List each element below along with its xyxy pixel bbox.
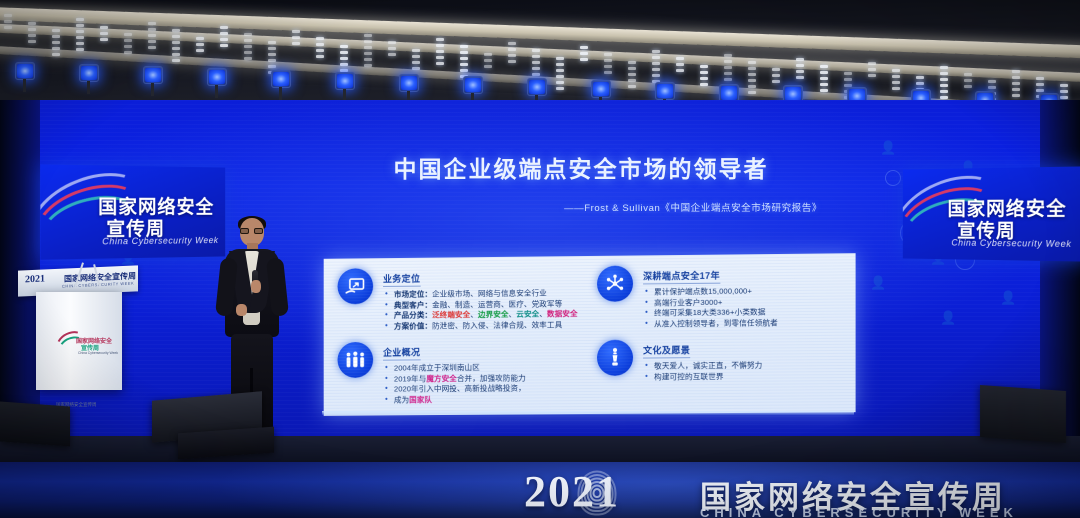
bullet-text: 2020年引入中网投、高新投战略投资， xyxy=(394,383,526,393)
stage-light-fixture xyxy=(78,64,100,90)
led-dot-group xyxy=(868,62,877,80)
bullet-text: 高端行业客户3000+ xyxy=(654,297,722,307)
led-dot-group xyxy=(364,34,373,70)
projected-slide: 中国企业级端点安全市场的领导者 ——Frost & Sullivan《中国企业端… xyxy=(300,128,862,428)
stage-light-fixture xyxy=(14,62,36,88)
card-body: 业务定位市场定位：企业级市场、网络与信息安全行业典型客户：金融、制造、运营商、医… xyxy=(383,267,582,332)
led-dot-group xyxy=(4,14,13,32)
bullet-highlight: 国家队 xyxy=(409,395,432,404)
bullet-text: 从准入控制领导者，到零信任领航者 xyxy=(654,318,778,328)
card-bullet: 成为国家队 xyxy=(383,394,582,406)
led-dot-group xyxy=(316,37,325,61)
stage-front-en-title: CHINA CYBERSECURITY WEEK xyxy=(700,505,1018,518)
bullet-label: 产品分类： xyxy=(394,310,432,319)
led-dot-group xyxy=(532,49,541,79)
led-dot-group xyxy=(700,65,709,89)
bullet-segment: 数据安全 xyxy=(547,309,578,318)
led-dot-group xyxy=(1012,70,1021,100)
stage-light-fixture xyxy=(142,66,164,92)
led-dot-group xyxy=(628,61,637,91)
banner-right-en: China Cybersecurity Week xyxy=(951,238,1071,249)
bullet-text: 2019年与 xyxy=(394,374,426,383)
bullet-text: 2004年成立于深圳南山区 xyxy=(394,363,480,373)
led-dot-group xyxy=(772,68,781,86)
led-dot-group xyxy=(508,42,517,66)
card-heading: 业务定位 xyxy=(383,272,420,287)
led-dot-group xyxy=(28,22,37,46)
led-dot-group xyxy=(220,26,229,50)
stage-light-fixture xyxy=(462,76,484,102)
banner-left-en: China Cybersecurity Week xyxy=(102,235,218,246)
podium-logo-en: China Cybersecurity Week xyxy=(78,351,118,355)
led-dot-group xyxy=(964,73,973,91)
led-dot-group xyxy=(292,30,301,48)
led-dot-group xyxy=(724,54,733,84)
led-dot-group xyxy=(604,53,613,77)
bullet-label: 方案价值： xyxy=(394,321,432,330)
card-heading: 文化及愿景 xyxy=(643,343,690,358)
stage-light-fixture xyxy=(334,72,356,98)
wall-person-glyph-icon: 👤 xyxy=(880,140,896,156)
led-dot-group xyxy=(388,41,397,59)
led-dot-group xyxy=(340,45,349,75)
speaker-hand-left xyxy=(236,304,247,316)
people-group-icon xyxy=(338,342,374,378)
bullet-text: 企业级市场、网络与信息安全行业 xyxy=(432,288,547,298)
led-dot-group xyxy=(556,57,565,93)
stage-light-fixture xyxy=(398,74,420,100)
fingerprint-ridge xyxy=(578,471,617,516)
podium: 2021 国家网络安全宣传周 CHINA CYBERSECURITY WEEK … xyxy=(24,268,132,390)
card-bullet: 方案价值：防泄密、防入侵、法律合规、效率工具 xyxy=(383,320,582,332)
bullet-text: 累计保护端点数15,000,000+ xyxy=(654,286,752,296)
led-dot-group xyxy=(412,49,421,73)
bullet-text: 合并，加强攻防能力 xyxy=(457,373,526,383)
slide-source-citation: ——Frost & Sullivan《中国企业端点安全市场研究报告》 xyxy=(300,200,862,214)
card-body: 企业概况2004年成立于深圳南山区2019年与魔方安全合并，加强攻防能力2020… xyxy=(383,341,582,405)
led-dot-group xyxy=(196,37,205,55)
led-dot-group xyxy=(100,26,109,44)
led-dot-group xyxy=(940,66,949,102)
led-dot-group xyxy=(748,61,757,97)
bullet-segment: 、 xyxy=(509,310,517,319)
bullet-segment: 、 xyxy=(470,310,478,319)
card-body: 深耕端点安全17年累计保护端点数15,000,000+高端行业客户3000+终端… xyxy=(643,264,844,329)
bullet-segment: 、 xyxy=(539,309,547,318)
wall-ring-glyph-icon xyxy=(885,170,901,186)
card-body: 文化及愿景敬天爱人，诚实正直，不懈努力构建可控的互联世界 xyxy=(643,339,844,383)
bullet-text: 终端可采集18大类336+小类数据 xyxy=(654,307,765,317)
bullet-text: 构建可控的互联世界 xyxy=(654,371,724,381)
led-dot-group xyxy=(820,65,829,95)
card-heading: 企业概况 xyxy=(383,345,420,360)
bullet-segment: 边界安全 xyxy=(478,310,509,319)
led-dot-group xyxy=(244,33,253,63)
stage-light-fixture xyxy=(270,70,292,96)
led-dot-group xyxy=(436,38,445,68)
led-dot-group xyxy=(124,33,133,57)
speaker-glasses-icon xyxy=(240,228,264,234)
bullet-label: 典型客户： xyxy=(394,300,432,309)
led-dot-group xyxy=(580,46,589,64)
banner-left: 国家网络安全 宣传周 China Cybersecurity Week xyxy=(40,164,225,259)
bullet-text: 防泄密、防入侵、法律合规、效率工具 xyxy=(432,320,562,330)
person-trophy-icon xyxy=(597,340,633,376)
slide-content-panel: 业务定位市场定位：企业级市场、网络与信息安全行业典型客户：金融、制造、运营商、医… xyxy=(324,253,856,416)
fingerprint-icon xyxy=(575,470,619,516)
card-bullet: 构建可控的互联世界 xyxy=(643,370,844,382)
led-dot-group xyxy=(148,22,157,52)
floor-equipment-case xyxy=(980,385,1066,443)
bullet-text: 成为 xyxy=(394,395,409,404)
led-dot-group xyxy=(172,29,181,65)
slide-title: 中国企业级端点安全市场的领导者 xyxy=(300,150,862,184)
card-bullet: 从准入控制领导者，到零信任领航者 xyxy=(643,317,844,329)
panel-bottom-edge xyxy=(322,411,854,415)
podium-column: 国家网络安全 宣传周 China Cybersecurity Week 国家网络… xyxy=(36,292,122,390)
bullet-segment: 泛终端安全 xyxy=(432,310,470,319)
conference-stage-photo: 👤👤👤👤👤👤👤👤👤👤👤 国家网络安全 宣传周 China Cybersecuri… xyxy=(0,0,1080,518)
speaker-hand-right xyxy=(251,280,261,293)
led-dot-group xyxy=(76,18,85,54)
led-dot-group xyxy=(484,53,493,71)
bullet-highlight: 魔方安全 xyxy=(426,374,457,383)
bullet-segment: 云安全 xyxy=(516,309,539,318)
bullet-label: 市场定位： xyxy=(394,290,432,299)
stage-light-fixture xyxy=(206,68,228,94)
led-dot-group xyxy=(52,29,61,59)
podium-logo: 国家网络安全 宣传周 China Cybersecurity Week xyxy=(56,330,112,356)
network-hub-icon xyxy=(597,266,633,302)
led-dot-group xyxy=(892,69,901,93)
led-dot-group xyxy=(796,58,805,82)
wall-person-glyph-icon: 👤 xyxy=(940,310,956,326)
bullet-text: 敬天爱人，诚实正直，不懈努力 xyxy=(654,361,762,371)
led-dot-group xyxy=(652,50,661,86)
wall-person-glyph-icon: 👤 xyxy=(870,275,886,291)
floor-equipment-case xyxy=(0,402,70,447)
podium-year: 2021 xyxy=(25,273,45,285)
led-dot-group xyxy=(676,57,685,75)
presentation-screen-icon xyxy=(338,268,374,304)
card-heading: 深耕端点安全17年 xyxy=(643,269,720,285)
wall-person-glyph-icon: 👤 xyxy=(1000,290,1016,306)
banner-right: 国家网络安全 宣传周 China Cybersecurity Week xyxy=(903,166,1080,261)
bullet-text: 金融、制造、运营商、医疗、党政军等 xyxy=(432,299,562,309)
